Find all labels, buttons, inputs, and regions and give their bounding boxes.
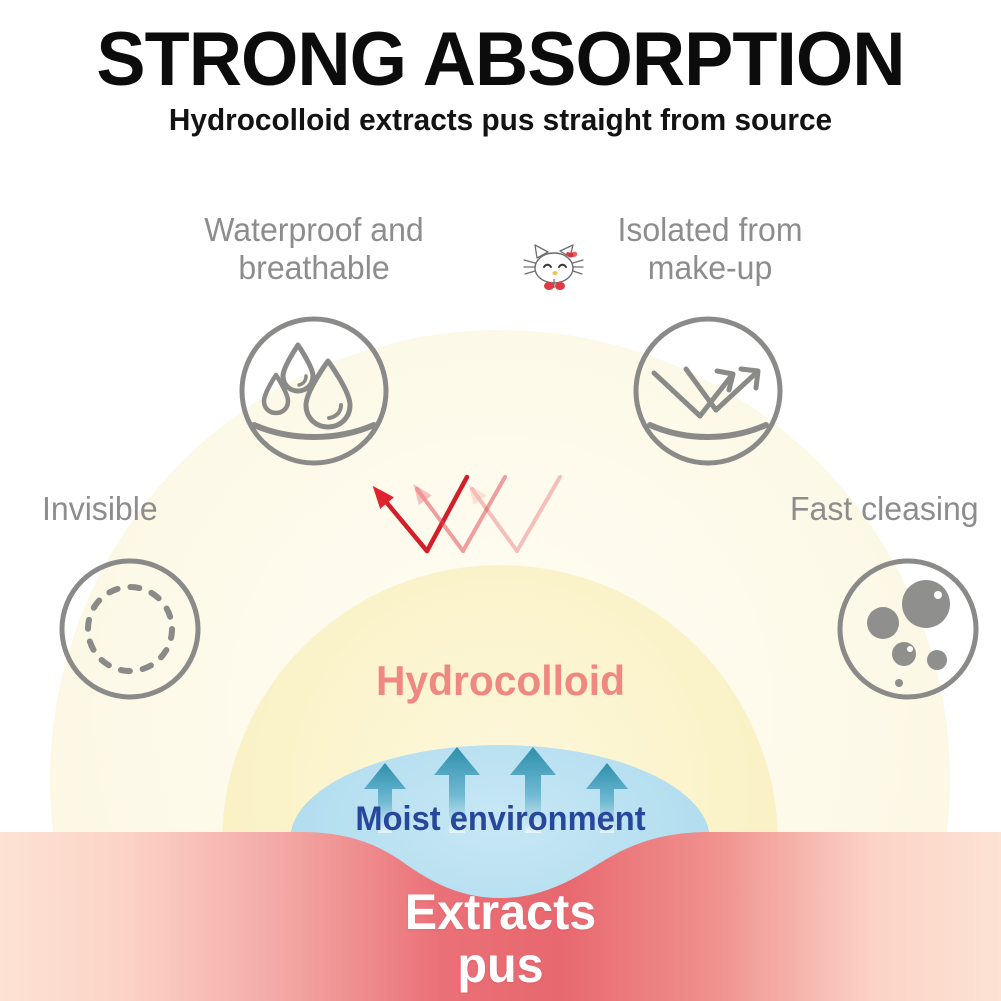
feature-invisible-label-line1: Invisible (42, 490, 255, 528)
bubble-small-2 (927, 650, 947, 670)
feature-makeup-label: Isolated from make-up (579, 211, 841, 287)
feature-waterproof-label-line1: Waterproof and (159, 211, 469, 249)
header: STRONG ABSORPTION Hydrocolloid extracts … (0, 0, 1001, 155)
infographic-page: Hydrocolloid Moist environment (0, 0, 1001, 1001)
page-subtitle: Hydrocolloid extracts pus straight from … (20, 104, 981, 135)
feature-waterproof: Waterproof and breathable (154, 211, 474, 287)
feature-waterproof-label: Waterproof and breathable (159, 211, 469, 287)
bubble-medium (867, 607, 899, 639)
extracts-pus-label: Extracts pus (15, 886, 986, 991)
bubble-tiny (895, 679, 903, 687)
feature-makeup-label-line2: make-up (579, 249, 841, 287)
feature-isolated-makeup: Isolated from make-up (575, 211, 845, 287)
feature-invisible-label: Invisible (42, 490, 255, 528)
deflection-arrows-icon (630, 313, 786, 474)
bubble-small (892, 642, 916, 666)
feature-waterproof-label-line2: breathable (159, 249, 469, 287)
bubble-large (902, 580, 950, 628)
feature-fast-cleansing-label-line1: Fast cleasing (790, 490, 1001, 528)
water-droplets-icon (236, 313, 392, 474)
page-title: STRONG ABSORPTION (15, 22, 986, 98)
feature-invisible: Invisible (42, 490, 262, 528)
bubbles-icon (832, 553, 984, 710)
deflected-bacteria-arrows (355, 455, 655, 575)
dashed-circle-icon (54, 553, 206, 710)
extracts-line-1: Extracts (405, 884, 596, 940)
feature-makeup-label-line1: Isolated from (579, 211, 841, 249)
hello-kitty-sticker (523, 240, 585, 296)
feature-fast-cleansing: Fast cleasing (790, 490, 1001, 528)
extracts-line-2: pus (15, 939, 986, 992)
feature-fast-cleansing-label: Fast cleasing (790, 490, 1001, 528)
